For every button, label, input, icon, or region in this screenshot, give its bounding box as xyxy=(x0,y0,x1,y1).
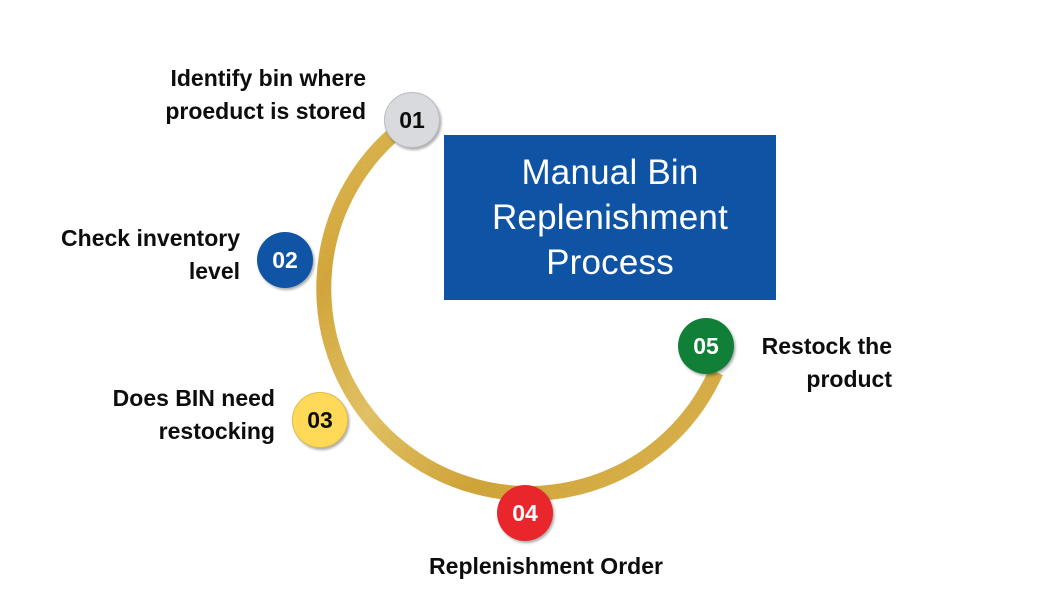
step-label-01: Identify bin where proeduct is stored xyxy=(66,62,366,128)
step-label-05: Restock the product xyxy=(742,330,892,396)
step-label-03: Does BIN need restocking xyxy=(40,382,275,448)
title-box: Manual Bin Replenishment Process xyxy=(444,135,776,300)
title-text: Manual Bin Replenishment Process xyxy=(492,150,728,285)
step-label-02: Check inventory level xyxy=(0,222,240,288)
step-circle-05[interactable]: 05 xyxy=(678,318,734,374)
diagram-canvas: Manual Bin Replenishment Process Identif… xyxy=(0,0,1050,600)
step-circle-03[interactable]: 03 xyxy=(292,392,348,448)
step-circle-01[interactable]: 01 xyxy=(384,92,440,148)
step-circle-02[interactable]: 02 xyxy=(257,232,313,288)
step-label-04: Replenishment Order xyxy=(406,550,686,583)
step-circle-04[interactable]: 04 xyxy=(497,485,553,541)
